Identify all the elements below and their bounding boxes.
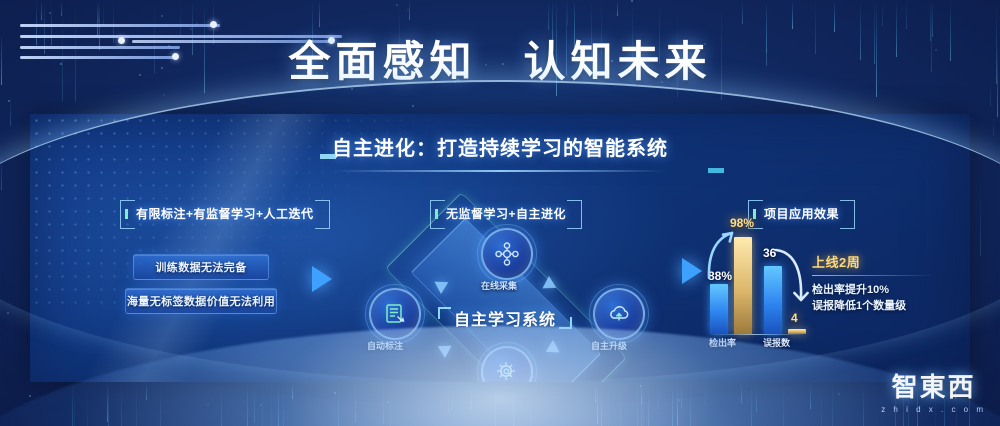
light-bar	[409, 0, 410, 20]
light-dot	[49, 12, 51, 14]
light-dot	[407, 9, 409, 11]
light-dot	[631, 0, 633, 2]
light-dot	[396, 4, 398, 6]
light-dot	[161, 15, 163, 17]
light-bar	[10, 95, 11, 126]
light-bar	[61, 0, 62, 16]
globe-horizon-line	[0, 80, 1000, 382]
light-bar	[993, 115, 994, 136]
light-dot	[8, 100, 10, 102]
light-bar	[792, 0, 793, 29]
light-bar	[548, 0, 549, 30]
light-bar	[882, 0, 883, 26]
light-bar	[617, 0, 618, 16]
light-dot	[29, 395, 31, 397]
watermark-logo: 智東西	[881, 367, 986, 404]
watermark: 智東西 z h i d x . c o m	[881, 367, 986, 414]
light-dot	[163, 94, 165, 96]
watermark-domain: z h i d x . c o m	[881, 405, 986, 414]
light-dot	[7, 312, 9, 314]
slide-screenshot: 全面感知 认知未来 自主进化：打造持续学习的智能系统 有限标注+有监督学习+人工…	[0, 0, 1000, 426]
light-bar	[906, 0, 907, 29]
light-bar	[41, 0, 42, 20]
light-bar	[742, 0, 743, 24]
light-bar	[567, 0, 568, 25]
